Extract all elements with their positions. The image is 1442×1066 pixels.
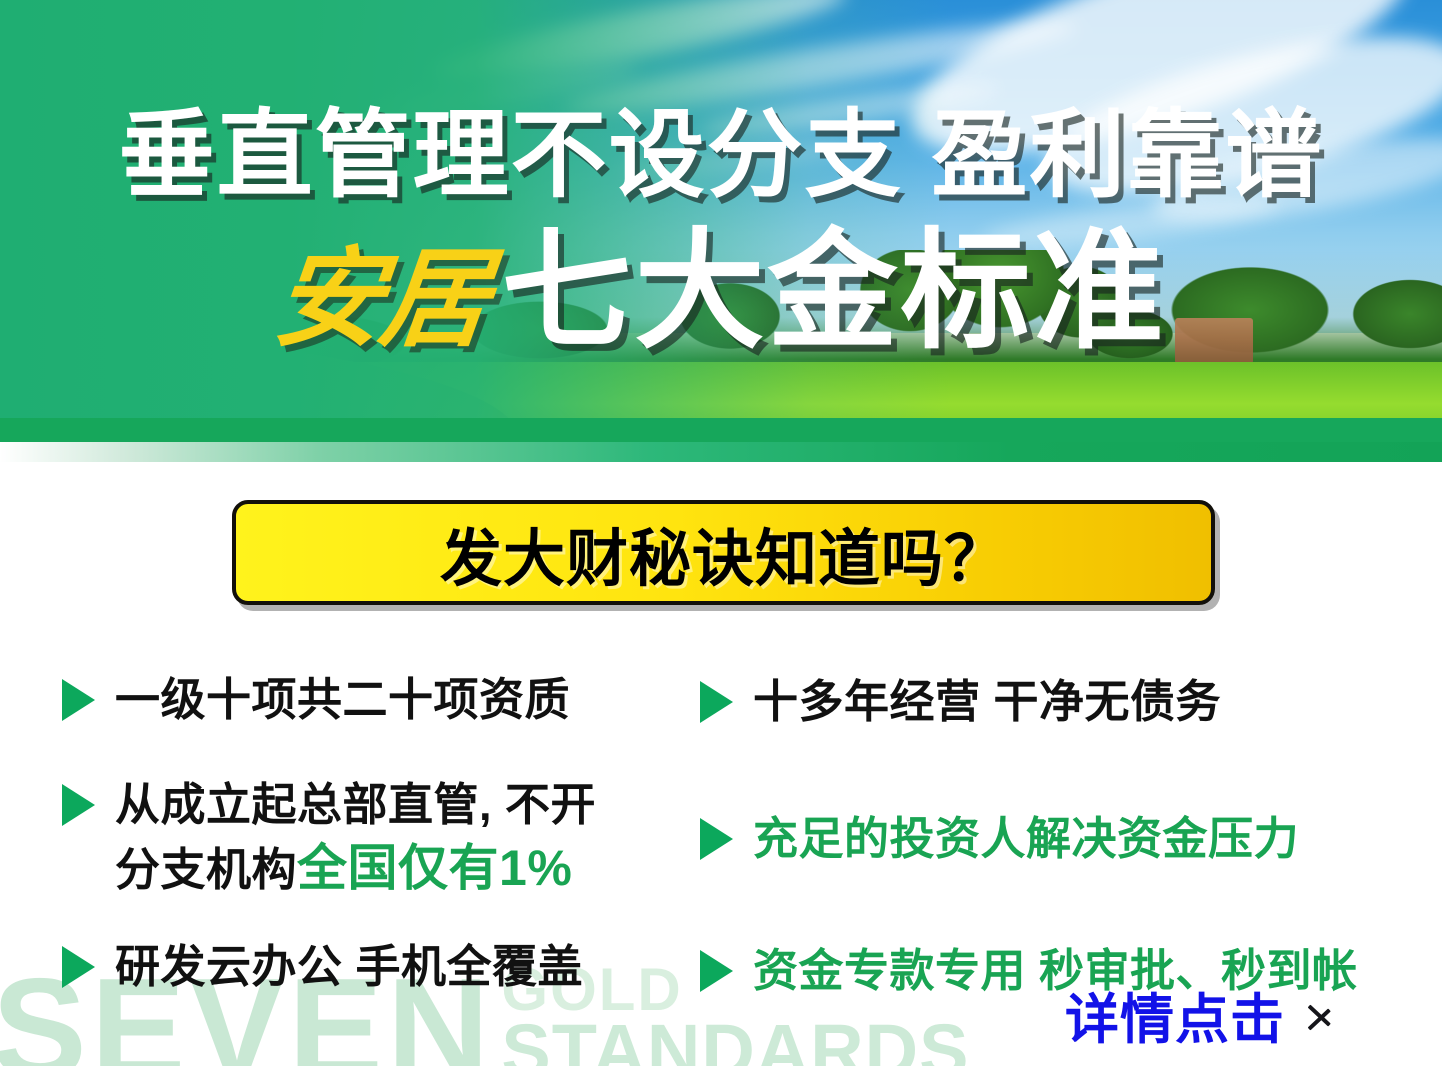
list-item-label: 十多年经营 干净无债务 [753, 672, 1221, 731]
hero-headline: 垂直管理不设分支 盈利靠谱 [0, 108, 1442, 204]
list-item-label: 充足的投资人解决资金压力 [753, 809, 1299, 868]
highlight-banner[interactable]: 发大财秘诀知道吗？ [232, 500, 1215, 605]
highlight-banner-text: 发大财秘诀知道吗？ [440, 508, 1007, 598]
hero-brand-name: 安居 [270, 245, 493, 353]
hero-title-group: 垂直管理不设分支 盈利靠谱 安居七大金标准 [0, 0, 1442, 356]
chevron-right-icon [1307, 991, 1333, 1039]
hero-subheadline-row: 安居七大金标准 [0, 226, 1442, 356]
advertisement-banner: 垂直管理不设分支 盈利靠谱 安居七大金标准 发大财秘诀知道吗？ 一级十项共二十项… [0, 0, 1442, 1066]
list-item-highlight: 全国仅有1% [297, 840, 572, 896]
list-item-label: 从成立起总部直管, 不开 分支机构全国仅有1% [115, 775, 596, 900]
list-item-line2-prefix: 分支机构 [115, 844, 297, 895]
feature-list-left: 一级十项共二十项资质 从成立起总部直管, 不开 分支机构全国仅有1% 研发云办公… [62, 670, 682, 1024]
list-item-line1: 从成立起总部直管, 不开 [115, 779, 596, 830]
list-item-label: 一级十项共二十项资质 [115, 670, 570, 729]
list-item: 一级十项共二十项资质 [62, 670, 682, 729]
list-item: 研发云办公 手机全覆盖 [62, 937, 682, 996]
details-cta-label: 详情点击 [1065, 975, 1285, 1054]
triangle-bullet-icon [700, 950, 733, 992]
list-item-label: 研发云办公 手机全覆盖 [115, 937, 583, 996]
list-item: 十多年经营 干净无债务 [700, 672, 1400, 731]
triangle-bullet-icon [700, 818, 733, 860]
list-item: 从成立起总部直管, 不开 分支机构全国仅有1% [62, 775, 682, 900]
hero-bottom-fade-strip [0, 442, 1442, 462]
hero-subheadline: 七大金标准 [502, 226, 1167, 356]
triangle-bullet-icon [62, 946, 95, 988]
triangle-bullet-icon [700, 681, 733, 723]
list-item: 充足的投资人解决资金压力 [700, 809, 1400, 868]
hero-bottom-bar [0, 418, 1442, 444]
details-cta-link[interactable]: 详情点击 [1065, 975, 1333, 1054]
triangle-bullet-icon [62, 679, 95, 721]
triangle-bullet-icon [62, 784, 95, 826]
hero-section: 垂直管理不设分支 盈利靠谱 安居七大金标准 [0, 0, 1442, 462]
